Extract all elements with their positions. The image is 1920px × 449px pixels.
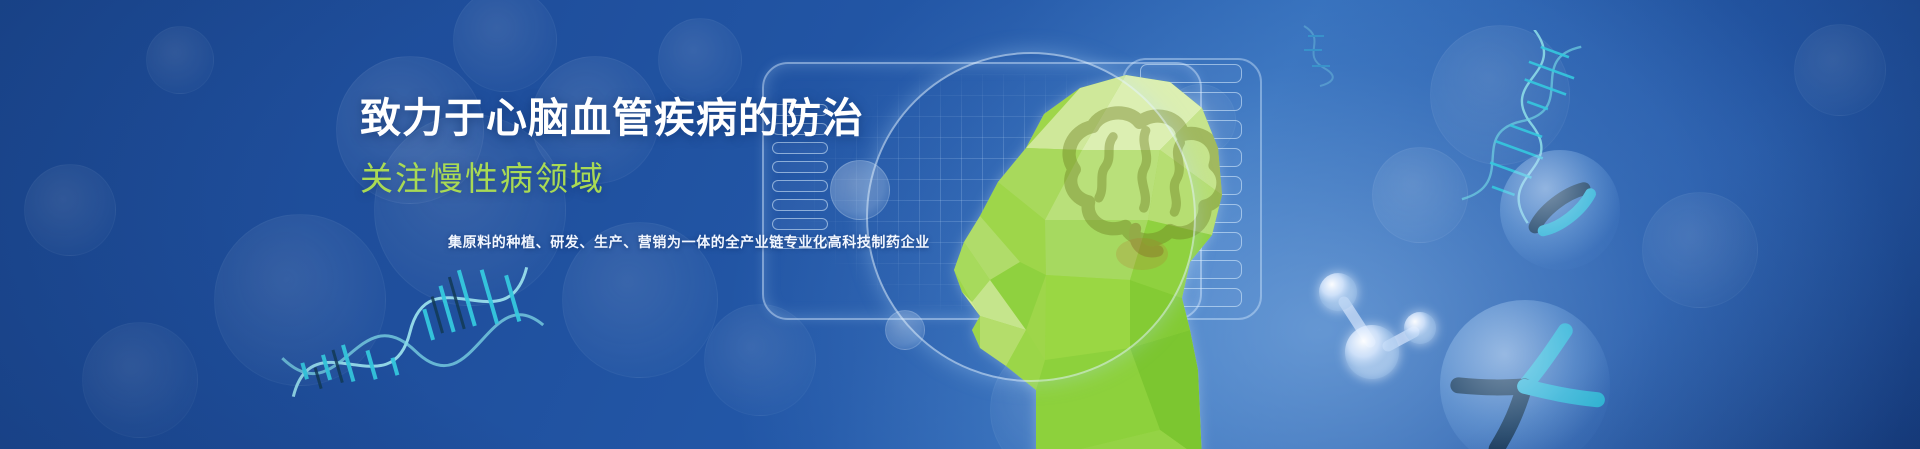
headline-emphasis: 心脑血管疾病 (486, 95, 738, 141)
page-tagline: 集原料的种植、研发、生产、营销为一体的全产业链专业化高科技制药企业 (448, 232, 960, 252)
headline-prefix: 致力于 (360, 95, 486, 141)
page-title: 致力于心脑血管疾病的防治 (360, 96, 960, 140)
chromosome-bubble-2 (1440, 300, 1610, 449)
headline-suffix: 的防治 (738, 95, 864, 141)
hero-banner: 致力于心脑血管疾病的防治 关注慢性病领域 集原料的种植、研发、生产、营销为一体的… (0, 0, 1920, 449)
bokeh-circle (704, 304, 816, 416)
bokeh-circle (1794, 24, 1886, 116)
bokeh-circle (1642, 192, 1758, 308)
bokeh-circle (1372, 147, 1468, 243)
bokeh-circle (82, 322, 198, 438)
bokeh-circle (24, 164, 116, 256)
chromosome-bubble-1 (1500, 150, 1620, 270)
dna-helix-left-icon (270, 252, 550, 412)
bokeh-circle (146, 26, 214, 94)
bubble (1500, 150, 1620, 270)
bokeh-circle (658, 18, 742, 102)
dna-speck-icon (1290, 20, 1350, 90)
bokeh-circle (453, 0, 557, 92)
page-subtitle: 关注慢性病领域 (360, 152, 960, 200)
hero-copy: 致力于心脑血管疾病的防治 关注慢性病领域 集原料的种植、研发、生产、营销为一体的… (360, 96, 960, 252)
